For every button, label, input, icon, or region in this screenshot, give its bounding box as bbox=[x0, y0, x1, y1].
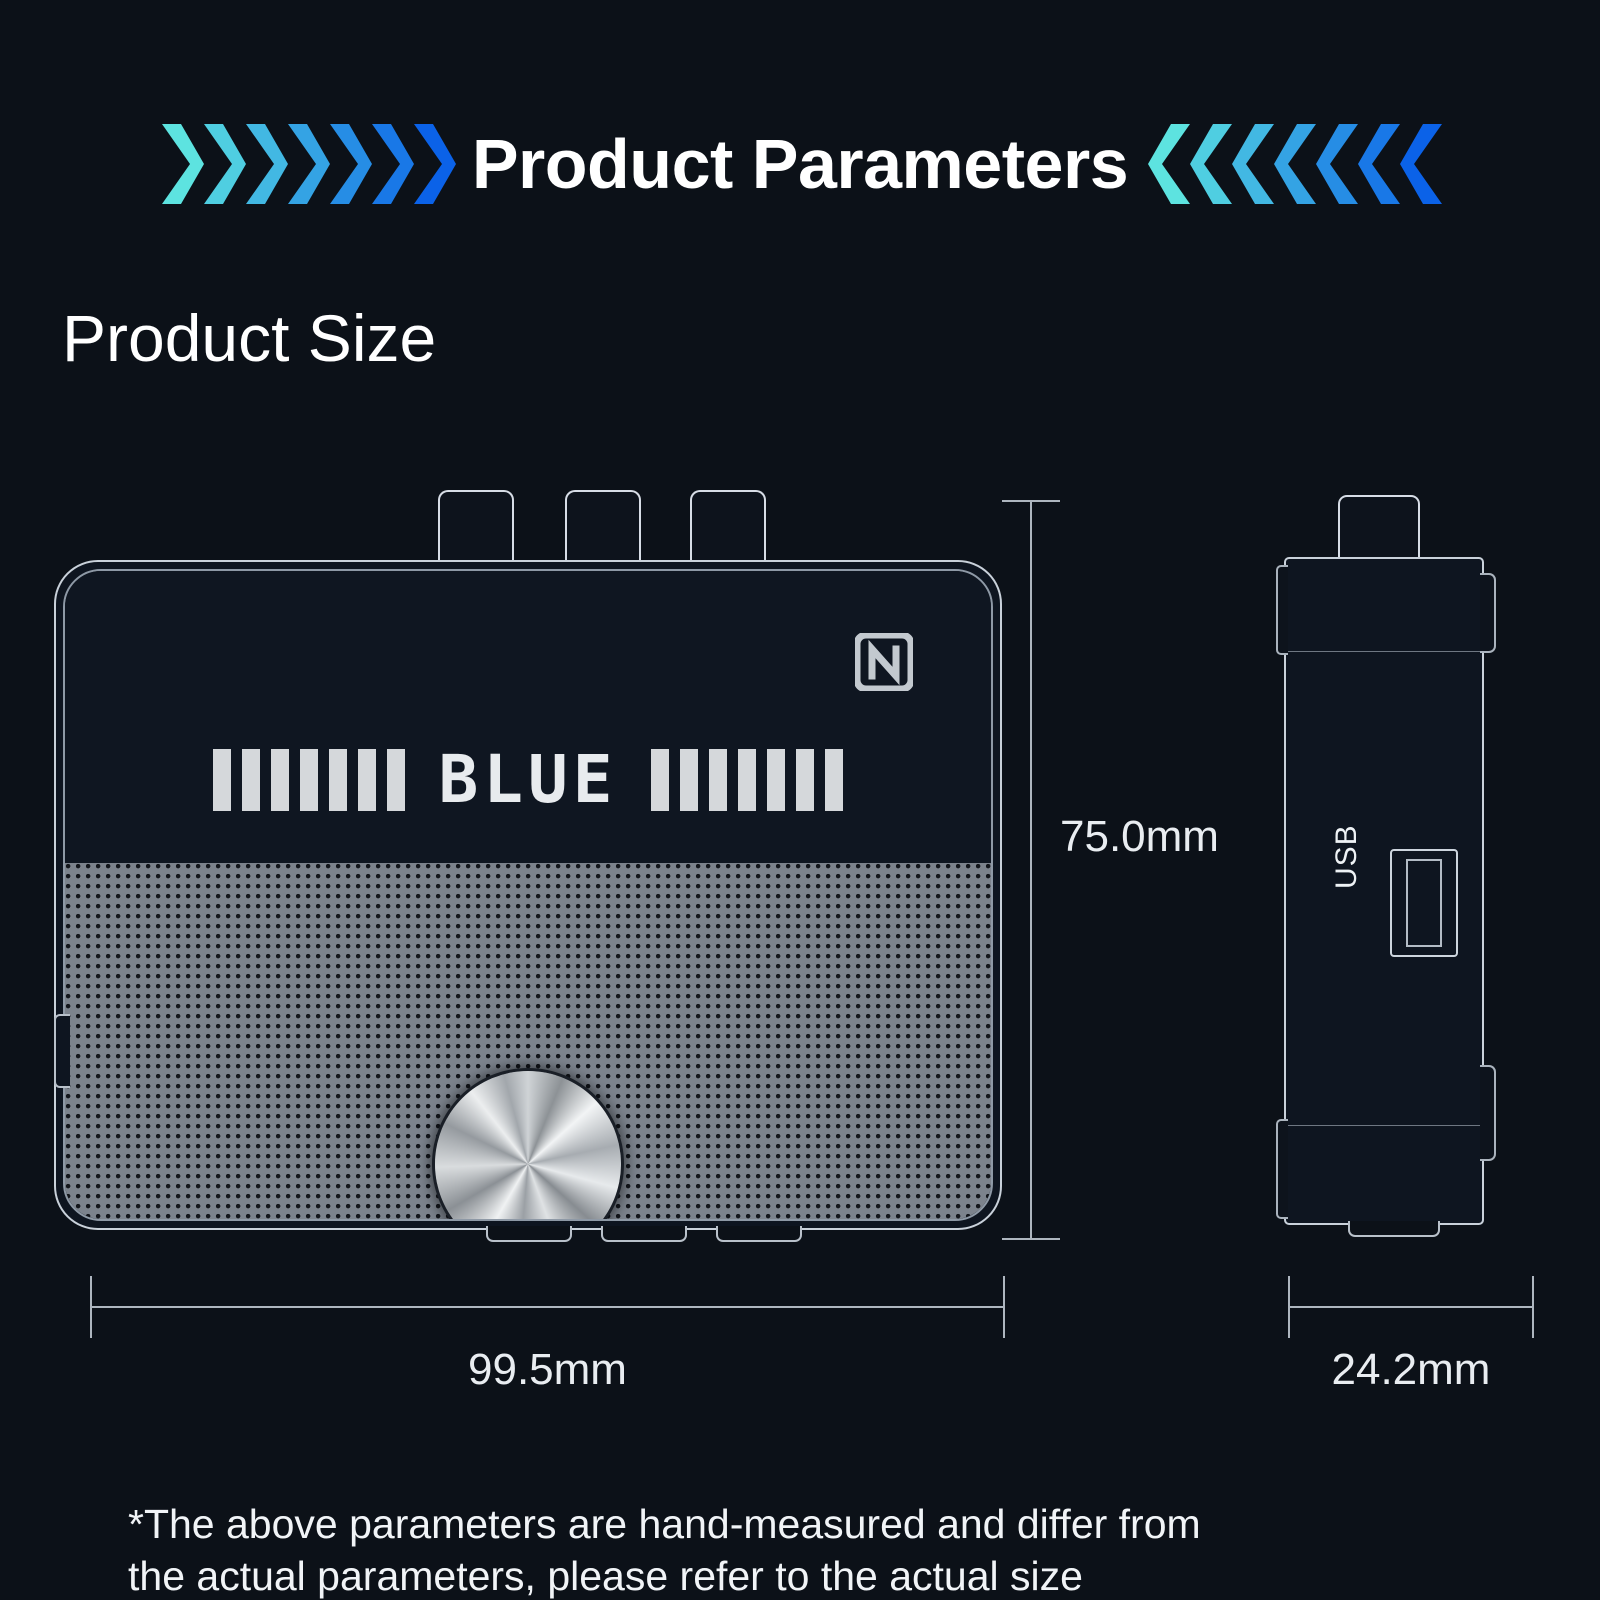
lcd-bar-right-7 bbox=[825, 749, 843, 811]
footnote-line-1: *The above parameters are hand-measured … bbox=[128, 1498, 1458, 1550]
footnote: *The above parameters are hand-measured … bbox=[128, 1498, 1458, 1600]
section-heading: Product Size bbox=[62, 300, 436, 376]
height-dimension-line bbox=[1030, 500, 1032, 1240]
header-banner: Product Parameters bbox=[0, 112, 1600, 216]
lcd-bar-right-6 bbox=[796, 749, 814, 811]
side-right-edge-top bbox=[1480, 573, 1496, 653]
volume-knob[interactable] bbox=[435, 1071, 621, 1221]
top-connector-tab-3 bbox=[690, 490, 766, 566]
lcd-text: BLUE bbox=[439, 747, 618, 813]
chevron-right-2 bbox=[1188, 122, 1234, 206]
power-button[interactable] bbox=[54, 1014, 70, 1088]
chevron-group-right bbox=[1146, 122, 1440, 206]
bottom-foot-2 bbox=[601, 1226, 687, 1242]
width-dimension-line bbox=[90, 1306, 1005, 1308]
device-body-inner: BLUE bbox=[63, 569, 993, 1221]
chevron-left-2 bbox=[202, 122, 248, 206]
lcd-bar-right-1 bbox=[651, 749, 669, 811]
usb-port bbox=[1390, 849, 1458, 957]
chevron-left-7 bbox=[412, 122, 458, 206]
chevron-right-1 bbox=[1146, 122, 1192, 206]
lcd-bar-left-2 bbox=[242, 749, 260, 811]
side-top-connector-tab bbox=[1338, 495, 1420, 561]
lcd-bar-right-4 bbox=[738, 749, 756, 811]
lcd-bar-left-1 bbox=[213, 749, 231, 811]
chevron-group-left bbox=[160, 122, 454, 206]
lcd-bar-left-3 bbox=[271, 749, 289, 811]
chevron-left-3 bbox=[244, 122, 290, 206]
lcd-bar-left-6 bbox=[358, 749, 376, 811]
footnote-line-2: the actual parameters, please refer to t… bbox=[128, 1550, 1458, 1600]
chevron-right-5 bbox=[1314, 122, 1360, 206]
lcd-bar-left-7 bbox=[387, 749, 405, 811]
bottom-foot-3 bbox=[716, 1226, 802, 1242]
bottom-foot-1 bbox=[486, 1226, 572, 1242]
height-dimension-label: 75.0mm bbox=[1060, 812, 1219, 862]
lcd-bar-right-5 bbox=[767, 749, 785, 811]
chevron-left-6 bbox=[370, 122, 416, 206]
lcd-display: BLUE bbox=[65, 747, 991, 813]
front-view-diagram: BLUE bbox=[40, 490, 1020, 1270]
lcd-bars-left bbox=[213, 749, 405, 811]
display-panel: BLUE bbox=[65, 571, 991, 863]
chevron-left-5 bbox=[328, 122, 374, 206]
top-connector-tab-1 bbox=[438, 490, 514, 566]
chevron-right-3 bbox=[1230, 122, 1276, 206]
lcd-bar-right-2 bbox=[680, 749, 698, 811]
usb-label: USB bbox=[1330, 824, 1364, 889]
depth-dimension-line bbox=[1288, 1306, 1534, 1308]
chevron-left-1 bbox=[160, 122, 206, 206]
side-view-diagram: USB bbox=[1270, 495, 1520, 1255]
lcd-bar-left-4 bbox=[300, 749, 318, 811]
lcd-bar-left-5 bbox=[329, 749, 347, 811]
depth-dimension-label: 24.2mm bbox=[1288, 1345, 1534, 1395]
lcd-bars-right bbox=[651, 749, 843, 811]
side-body-outline: USB bbox=[1284, 557, 1484, 1225]
side-seam-bottom bbox=[1286, 1125, 1482, 1126]
speaker-grille bbox=[65, 863, 991, 1219]
product-parameters-page: Product Parameters Product Size bbox=[0, 0, 1600, 1600]
side-seam-top bbox=[1286, 651, 1482, 652]
chevron-right-6 bbox=[1356, 122, 1402, 206]
side-left-edge-bottom bbox=[1276, 1119, 1288, 1219]
side-bottom-foot bbox=[1348, 1221, 1440, 1237]
width-dimension-label: 99.5mm bbox=[90, 1345, 1005, 1395]
chevron-left-4 bbox=[286, 122, 332, 206]
chevron-right-7 bbox=[1398, 122, 1444, 206]
chevron-right-4 bbox=[1272, 122, 1318, 206]
page-title: Product Parameters bbox=[472, 129, 1128, 199]
nfc-icon bbox=[855, 633, 913, 691]
side-right-edge-bottom bbox=[1480, 1065, 1496, 1161]
lcd-bar-right-3 bbox=[709, 749, 727, 811]
side-left-edge-top bbox=[1276, 565, 1288, 655]
top-connector-tab-2 bbox=[565, 490, 641, 566]
device-body-outline: BLUE bbox=[54, 560, 1002, 1230]
